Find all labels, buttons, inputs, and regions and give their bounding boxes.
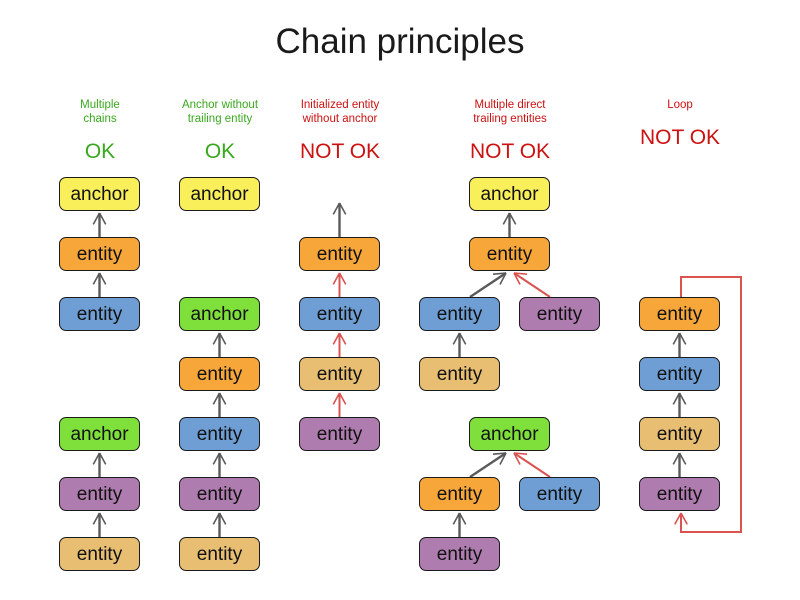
edge-arrow xyxy=(93,513,105,537)
node-label: entity xyxy=(657,305,702,324)
column-caption: Initialized entity without anchor xyxy=(260,98,420,126)
edge-arrow xyxy=(675,513,687,528)
node-label: entity xyxy=(77,245,122,264)
column-verdict: NOT OK xyxy=(600,126,760,150)
node-entity[interactable]: entity xyxy=(419,477,500,511)
edge-arrow xyxy=(93,213,105,237)
node-entity[interactable]: entity xyxy=(419,357,500,391)
node-label: entity xyxy=(197,365,242,384)
node-label: entity xyxy=(77,545,122,564)
edge-arrow xyxy=(213,453,225,477)
node-label: entity xyxy=(77,485,122,504)
page-title: Chain principles xyxy=(0,22,800,62)
node-entity[interactable]: entity xyxy=(419,297,500,331)
column-header-loop: Loop NOT OK xyxy=(600,98,760,150)
node-anchor[interactable]: anchor xyxy=(469,417,550,451)
edge-arrow xyxy=(213,513,225,537)
node-label: anchor xyxy=(190,185,248,204)
node-label: entity xyxy=(537,305,582,324)
column-header-initialized-no-anchor: Initialized entity without anchor NOT OK xyxy=(260,98,420,164)
column-caption: Loop xyxy=(600,98,760,112)
node-label: entity xyxy=(437,305,482,324)
node-entity[interactable]: entity xyxy=(59,237,140,271)
node-entity[interactable]: entity xyxy=(419,537,500,571)
column-verdict: NOT OK xyxy=(260,140,420,164)
node-entity[interactable]: entity xyxy=(179,537,260,571)
node-label: entity xyxy=(197,425,242,444)
edge-arrow xyxy=(333,273,345,297)
edge-arrow xyxy=(673,453,685,477)
node-entity[interactable]: entity xyxy=(639,297,720,331)
node-anchor[interactable]: anchor xyxy=(469,177,550,211)
node-label: entity xyxy=(317,305,362,324)
node-entity[interactable]: entity xyxy=(639,477,720,511)
edge-arrow xyxy=(333,393,345,417)
node-anchor[interactable]: anchor xyxy=(59,177,140,211)
edge-arrow xyxy=(453,513,465,537)
node-entity[interactable]: entity xyxy=(59,537,140,571)
edge-arrow xyxy=(673,333,685,357)
node-entity[interactable]: entity xyxy=(639,357,720,391)
column-verdict: NOT OK xyxy=(430,140,590,164)
node-label: entity xyxy=(437,485,482,504)
node-entity[interactable]: entity xyxy=(299,237,380,271)
node-anchor[interactable]: anchor xyxy=(59,417,140,451)
column-caption: Multiple direct trailing entities xyxy=(430,98,590,126)
node-label: anchor xyxy=(70,425,128,444)
node-entity[interactable]: entity xyxy=(639,417,720,451)
edge-arrow xyxy=(503,213,515,237)
edge-arrow xyxy=(470,273,506,297)
node-entity[interactable]: entity xyxy=(59,297,140,331)
node-entity[interactable]: entity xyxy=(59,477,140,511)
node-label: anchor xyxy=(480,425,538,444)
edge-arrow xyxy=(213,333,225,357)
diagram-canvas: Chain principles Multiple chains OK Anch… xyxy=(0,0,800,600)
column-header-multiple-direct: Multiple direct trailing entities NOT OK xyxy=(430,98,590,164)
node-label: entity xyxy=(317,425,362,444)
node-entity[interactable]: entity xyxy=(519,477,600,511)
edge-arrow xyxy=(470,453,506,477)
node-anchor[interactable]: anchor xyxy=(179,177,260,211)
node-label: entity xyxy=(437,365,482,384)
node-entity[interactable]: entity xyxy=(519,297,600,331)
node-label: entity xyxy=(197,545,242,564)
edge-arrow xyxy=(514,453,550,477)
node-label: anchor xyxy=(190,305,248,324)
edge-arrow xyxy=(453,333,465,357)
node-label: entity xyxy=(657,485,702,504)
edge-arrow xyxy=(673,393,685,417)
node-label: entity xyxy=(657,425,702,444)
node-entity[interactable]: entity xyxy=(299,297,380,331)
edge-arrow xyxy=(93,453,105,477)
node-label: entity xyxy=(197,485,242,504)
node-label: entity xyxy=(487,245,532,264)
edge-arrow xyxy=(93,273,105,297)
edge-arrow xyxy=(213,393,225,417)
edge-arrow xyxy=(333,203,345,237)
edge-arrow xyxy=(333,333,345,357)
node-anchor[interactable]: anchor xyxy=(179,297,260,331)
node-entity[interactable]: entity xyxy=(469,237,550,271)
node-label: anchor xyxy=(70,185,128,204)
node-entity[interactable]: entity xyxy=(299,417,380,451)
node-entity[interactable]: entity xyxy=(299,357,380,391)
node-entity[interactable]: entity xyxy=(179,417,260,451)
node-label: anchor xyxy=(480,185,538,204)
edge-arrow xyxy=(514,273,550,297)
node-entity[interactable]: entity xyxy=(179,357,260,391)
node-label: entity xyxy=(77,305,122,324)
node-label: entity xyxy=(537,485,582,504)
node-label: entity xyxy=(317,365,362,384)
node-label: entity xyxy=(437,545,482,564)
node-label: entity xyxy=(657,365,702,384)
node-label: entity xyxy=(317,245,362,264)
node-entity[interactable]: entity xyxy=(179,477,260,511)
